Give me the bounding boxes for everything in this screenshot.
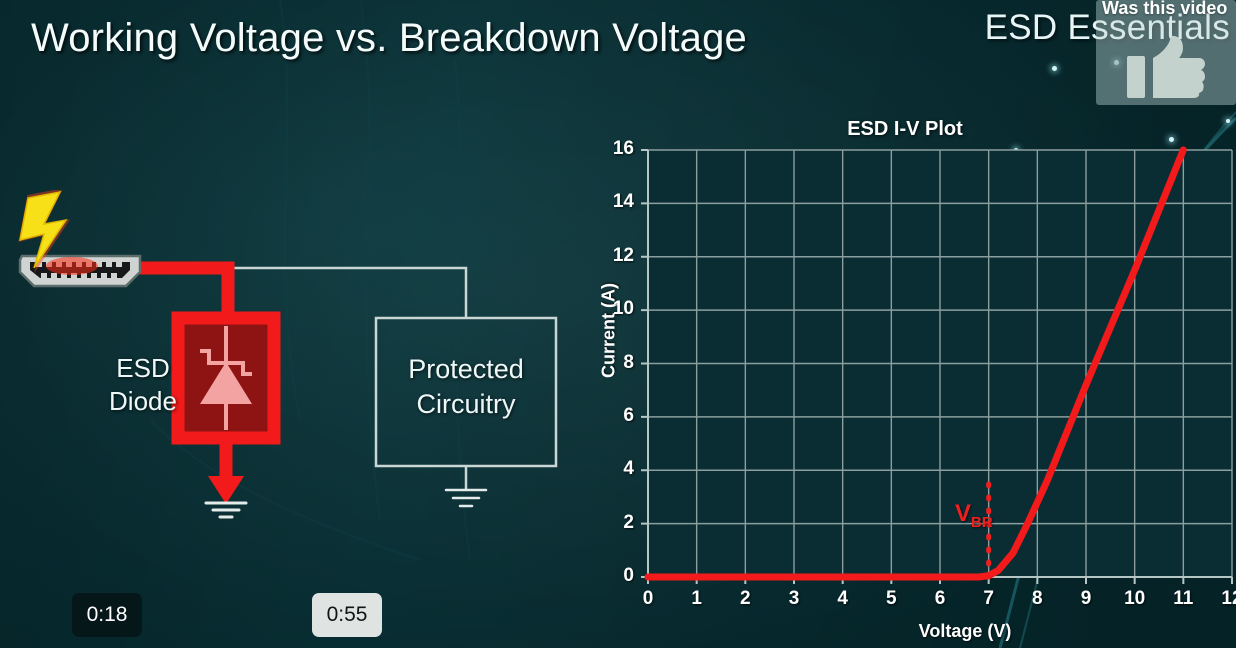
x-tick-7: 7	[974, 588, 1004, 610]
x-tick-2: 2	[730, 588, 760, 610]
y-tick-16: 16	[596, 138, 634, 160]
surge-wire	[136, 268, 228, 318]
y-tick-14: 14	[596, 191, 634, 213]
x-tick-0: 0	[633, 588, 663, 610]
x-tick-8: 8	[1022, 588, 1052, 610]
y-tick-6: 6	[596, 405, 634, 427]
x-tick-4: 4	[828, 588, 858, 610]
esd-diode-label: ESD Diode	[88, 352, 198, 419]
ground-icon-diode	[206, 503, 246, 517]
x-tick-12: 12	[1217, 588, 1236, 610]
esd-diode-label-line2: Diode	[88, 385, 198, 418]
y-tick-0: 0	[596, 565, 634, 587]
protected-circuitry-line1: Protected	[380, 352, 552, 387]
x-tick-10: 10	[1120, 588, 1150, 610]
chart-plot-area	[580, 105, 1236, 648]
y-tick-10: 10	[596, 298, 634, 320]
x-tick-6: 6	[925, 588, 955, 610]
protected-circuitry-label: Protected Circuitry	[380, 352, 552, 421]
y-tick-8: 8	[596, 352, 634, 374]
y-tick-12: 12	[596, 245, 634, 267]
diode-ground-wire	[208, 438, 244, 504]
x-tick-11: 11	[1168, 588, 1198, 610]
total-time-badge[interactable]: 0:55	[312, 593, 382, 637]
x-tick-1: 1	[682, 588, 712, 610]
breakdown-voltage-label: VBR	[955, 500, 993, 531]
ground-icon-protected	[446, 490, 486, 506]
y-tick-2: 2	[596, 512, 634, 534]
survey-question-text: Was this video	[1102, 0, 1227, 19]
survey-overlay-panel[interactable]: Was this video	[1096, 0, 1236, 105]
page-title: Working Voltage vs. Breakdown Voltage	[31, 16, 747, 61]
y-tick-4: 4	[596, 458, 634, 480]
protected-circuitry-line2: Circuitry	[380, 387, 552, 422]
signal-wire	[228, 268, 466, 318]
current-time-badge[interactable]: 0:18	[72, 593, 142, 637]
thumbs-up-icon[interactable]	[1127, 34, 1205, 100]
esd-iv-chart: ESD I-V Plot Current (A) Voltage (V) 024…	[580, 105, 1236, 648]
vbr-sub: BR	[971, 514, 993, 531]
x-tick-3: 3	[779, 588, 809, 610]
vbr-main: V	[955, 500, 971, 527]
x-tick-9: 9	[1071, 588, 1101, 610]
esd-diode-label-line1: ESD	[88, 352, 198, 385]
x-tick-5: 5	[876, 588, 906, 610]
